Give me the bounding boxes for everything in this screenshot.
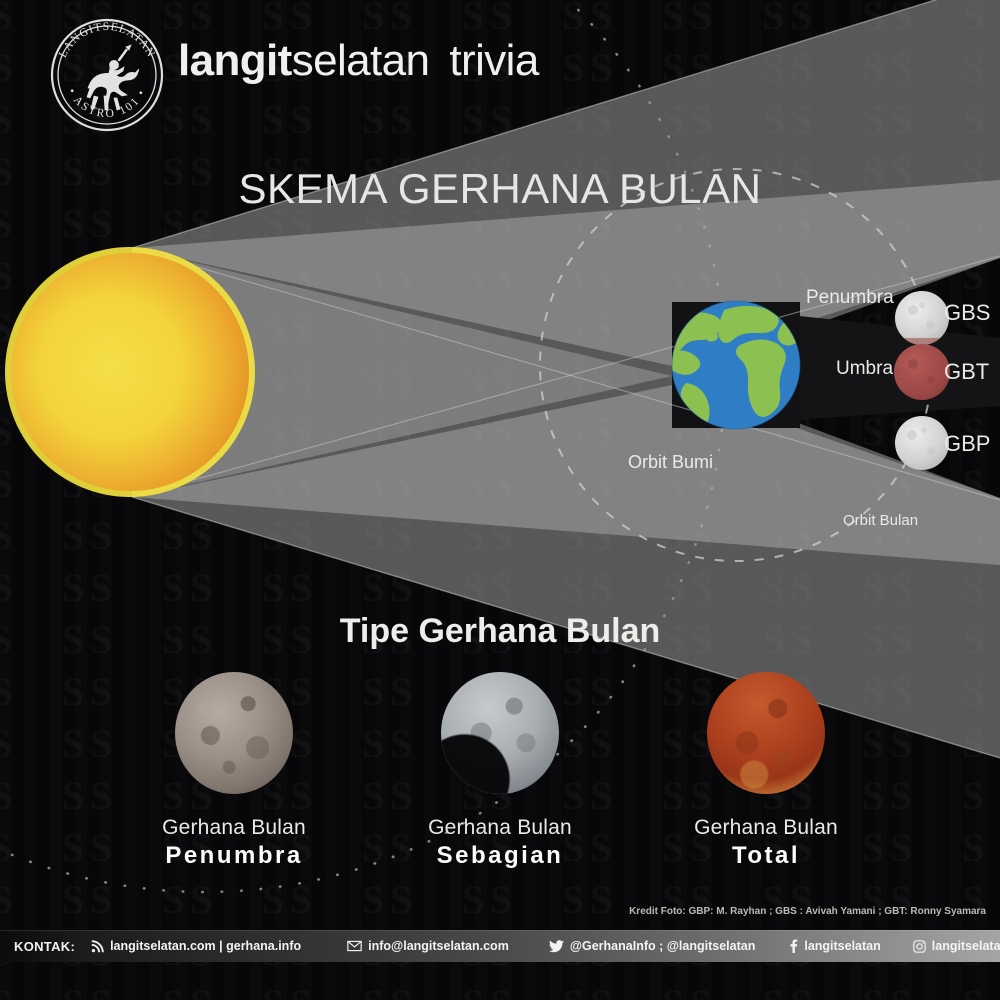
facebook-f-icon (789, 939, 798, 953)
logo-top-arc-text: LANGITSELATAN (57, 21, 157, 60)
contact-footer-bar: KONTAK: langitselatan.com | gerhana.info… (0, 930, 1000, 962)
eclipse-types-row: Gerhana Bulan Penumbra Gerhana Bulan Seb… (0, 672, 1000, 892)
scheme-title: SKEMA GERHANA BULAN (0, 165, 1000, 213)
infographic-page: SSSSSSSSSSSSSSSSSSSSSSSSSSSSSSSSSSSSSSSS… (0, 0, 1000, 1000)
brand-selatan: selatan (292, 36, 430, 85)
moon-gbt (894, 344, 950, 400)
type-card-sebagian: Gerhana Bulan Sebagian (367, 672, 633, 892)
footer-item-instagram[interactable]: langitselatanmedia (913, 939, 1000, 953)
instagram-icon (913, 940, 926, 953)
label-gbt: GBT (944, 359, 989, 385)
footer-item-label: langitselatan (804, 939, 880, 953)
crater-overlay (707, 672, 825, 794)
type-card-penumbra: Gerhana Bulan Penumbra (101, 672, 367, 892)
type-label-line2: Total (633, 842, 899, 870)
langitselatan-logo[interactable]: LANGITSELATAN • ASTRO 101 • (48, 16, 166, 134)
type-label-line1: Gerhana Bulan (367, 816, 633, 840)
rss-icon (91, 940, 104, 953)
type-label-line2: Sebagian (367, 842, 633, 870)
brand-trivia: trivia (449, 36, 538, 85)
moon-penumbral-eclipse-photo (175, 672, 293, 794)
photo-credit: Kredit Foto: GBP: M. Rayhan ; GBS : Aviv… (629, 906, 986, 917)
kontak-label: KONTAK: (0, 939, 85, 954)
crater-overlay (441, 672, 559, 794)
footer-item-label: @GerhanaInfo ; @langitselatan (570, 939, 756, 953)
envelope-icon (347, 940, 362, 952)
label-orbit-bulan: Orbit Bulan (843, 512, 918, 529)
footer-item-email[interactable]: info@langitselatan.com (347, 939, 509, 953)
type-label-line2: Penumbra (101, 842, 367, 870)
page-header: LANGITSELATAN • ASTRO 101 • (0, 0, 1000, 140)
types-title: Tipe Gerhana Bulan (0, 612, 1000, 651)
footer-item-label: info@langitselatan.com (368, 939, 509, 953)
type-label-line1: Gerhana Bulan (633, 816, 899, 840)
footer-item-facebook[interactable]: langitselatan (789, 939, 880, 953)
moon-total-eclipse-photo (707, 672, 825, 794)
type-card-total: Gerhana Bulan Total (633, 672, 899, 892)
label-gbs: GBS (944, 300, 990, 326)
footer-item-label: langitselatan.com | gerhana.info (110, 939, 301, 953)
twitter-bird-icon (549, 940, 564, 953)
moon-gbp (895, 416, 949, 470)
sun-disc (11, 253, 249, 491)
label-umbra: Umbra (836, 358, 893, 380)
footer-item-twitter[interactable]: @GerhanaInfo ; @langitselatan (549, 939, 756, 953)
footer-item-label: langitselatanmedia (932, 939, 1000, 953)
label-penumbra: Penumbra (806, 287, 894, 309)
label-gbp: GBP (944, 431, 990, 457)
brand-wordmark: langitselatantrivia (178, 36, 539, 86)
type-label-line1: Gerhana Bulan (101, 816, 367, 840)
brand-langit: langit (178, 36, 292, 85)
moon-partial-eclipse-photo (441, 672, 559, 794)
footer-item-website[interactable]: langitselatan.com | gerhana.info (91, 939, 301, 953)
crater-overlay (175, 672, 293, 794)
label-orbit-bumi: Orbit Bumi (628, 452, 713, 473)
